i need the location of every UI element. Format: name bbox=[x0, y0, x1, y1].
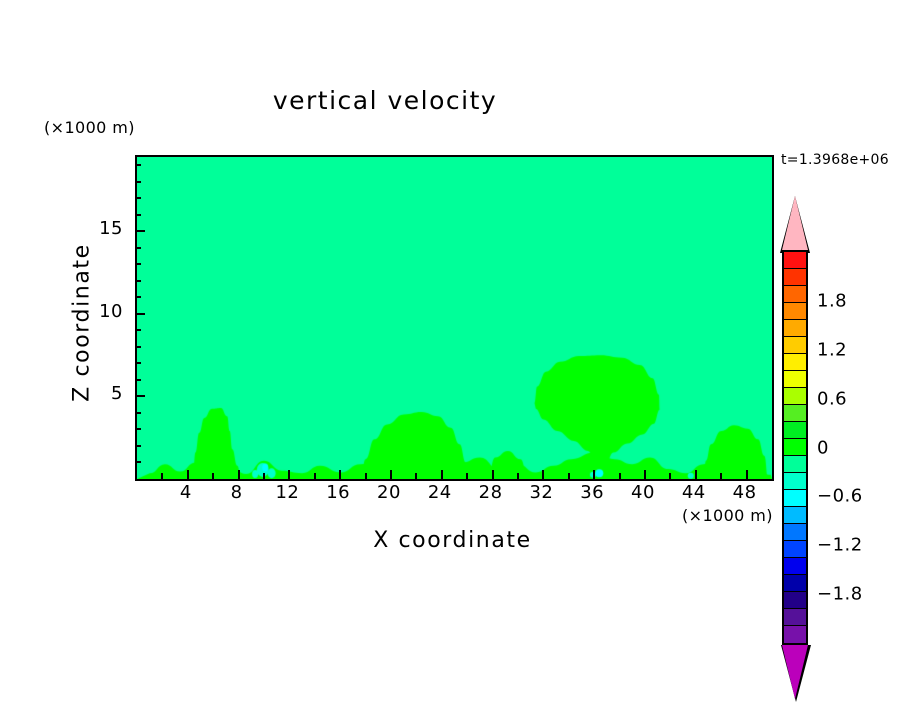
x-tick-label: 16 bbox=[316, 482, 360, 503]
colorbar-band bbox=[784, 609, 806, 626]
colorbar-band bbox=[784, 575, 806, 592]
x-tick-label: 8 bbox=[215, 482, 259, 503]
x-tick-major bbox=[390, 470, 392, 479]
colorbar-band bbox=[784, 252, 806, 269]
page-title: vertical velocity bbox=[0, 86, 770, 115]
time-annotation: t=1.3968e+06 bbox=[781, 152, 889, 168]
x-tick-minor bbox=[263, 473, 265, 479]
x-tick-label: 20 bbox=[367, 482, 411, 503]
x-tick-minor bbox=[466, 473, 468, 479]
x-tick-minor bbox=[161, 473, 163, 479]
colorbar-band bbox=[784, 626, 806, 643]
colorbar-band bbox=[784, 422, 806, 439]
colorbar-tick-label: 0 bbox=[817, 437, 829, 458]
x-tick-major bbox=[339, 470, 341, 479]
colorbar-band bbox=[784, 303, 806, 320]
x-tick-minor bbox=[568, 473, 570, 479]
colorbar-band bbox=[784, 507, 806, 524]
colorbar-band bbox=[784, 439, 806, 456]
x-tick-major bbox=[695, 470, 697, 479]
colorbar-band bbox=[784, 524, 806, 541]
x-tick-label: 36 bbox=[570, 482, 614, 503]
colorbar-under-arrow bbox=[782, 645, 808, 699]
colorbar-band bbox=[784, 558, 806, 575]
x-tick-label: 4 bbox=[164, 482, 208, 503]
y-tick-minor bbox=[135, 181, 141, 183]
x-tick-major bbox=[746, 470, 748, 479]
x-axis-tick-labels: 4812162024283236404448 bbox=[135, 482, 770, 508]
x-tick-major bbox=[187, 470, 189, 479]
y-tick-minor bbox=[135, 445, 141, 447]
x-tick-minor bbox=[619, 473, 621, 479]
colorbar-tick-label: −1.2 bbox=[817, 535, 863, 556]
colorbar-band bbox=[784, 337, 806, 354]
y-tick-minor bbox=[135, 329, 141, 331]
x-tick-label: 40 bbox=[621, 482, 665, 503]
colorbar-tick-label: −1.8 bbox=[817, 584, 863, 605]
x-tick-minor bbox=[720, 473, 722, 479]
y-tick-minor bbox=[135, 263, 141, 265]
colorbar-band bbox=[784, 490, 806, 507]
y-tick-minor bbox=[135, 412, 141, 414]
x-tick-label: 28 bbox=[469, 482, 513, 503]
x-axis-title: X coordinate bbox=[135, 528, 770, 553]
x-tick-minor bbox=[669, 473, 671, 479]
colorbar-band bbox=[784, 592, 806, 609]
colorbar-band bbox=[784, 269, 806, 286]
colorbar-tick-label: 0.6 bbox=[817, 388, 847, 409]
y-tick-minor bbox=[135, 362, 141, 364]
x-tick-major bbox=[593, 470, 595, 479]
y-tick-minor bbox=[135, 280, 141, 282]
x-tick-major bbox=[441, 470, 443, 479]
colorbar-band bbox=[784, 286, 806, 303]
x-axis-unit-label: (×1000 m) bbox=[682, 506, 773, 525]
y-axis-title: Z coordinate bbox=[70, 203, 95, 443]
colorbar-bands bbox=[782, 250, 808, 645]
y-tick-minor bbox=[135, 197, 141, 199]
y-tick-minor bbox=[135, 379, 141, 381]
colorbar-tick-label: 1.8 bbox=[817, 290, 847, 311]
x-tick-major bbox=[542, 470, 544, 479]
x-tick-minor bbox=[517, 473, 519, 479]
y-tick-minor bbox=[135, 428, 141, 430]
colorbar-tick-label: −0.6 bbox=[817, 486, 863, 507]
x-axis-ticks bbox=[135, 155, 770, 479]
x-tick-minor bbox=[212, 473, 214, 479]
colorbar: 1.81.20.60−0.6−1.2−1.8 bbox=[781, 196, 901, 521]
y-tick-minor bbox=[135, 164, 141, 166]
colorbar-band bbox=[784, 541, 806, 558]
y-axis-unit-label: (×1000 m) bbox=[44, 118, 135, 137]
colorbar-band bbox=[784, 473, 806, 490]
y-tick-major bbox=[135, 395, 145, 397]
x-tick-label: 24 bbox=[418, 482, 462, 503]
x-tick-label: 12 bbox=[265, 482, 309, 503]
y-tick-minor bbox=[135, 247, 141, 249]
colorbar-band bbox=[784, 371, 806, 388]
x-tick-minor bbox=[415, 473, 417, 479]
y-tick-minor bbox=[135, 296, 141, 298]
colorbar-band bbox=[784, 456, 806, 473]
x-tick-major bbox=[492, 470, 494, 479]
y-tick-minor bbox=[135, 461, 141, 463]
colorbar-band bbox=[784, 405, 806, 422]
y-tick-major bbox=[135, 230, 145, 232]
x-tick-major bbox=[644, 470, 646, 479]
x-tick-major bbox=[238, 470, 240, 479]
x-tick-label: 48 bbox=[723, 482, 767, 503]
colorbar-tick-label: 1.2 bbox=[817, 339, 847, 360]
colorbar-band bbox=[784, 320, 806, 337]
x-tick-minor bbox=[314, 473, 316, 479]
colorbar-over-arrow bbox=[782, 196, 808, 250]
x-tick-minor bbox=[365, 473, 367, 479]
x-tick-label: 44 bbox=[672, 482, 716, 503]
y-tick-minor bbox=[135, 346, 141, 348]
colorbar-band bbox=[784, 388, 806, 405]
y-axis-ticks bbox=[135, 155, 147, 477]
y-tick-major bbox=[135, 313, 145, 315]
x-tick-major bbox=[288, 470, 290, 479]
x-tick-label: 32 bbox=[519, 482, 563, 503]
colorbar-band bbox=[784, 354, 806, 371]
y-tick-minor bbox=[135, 214, 141, 216]
